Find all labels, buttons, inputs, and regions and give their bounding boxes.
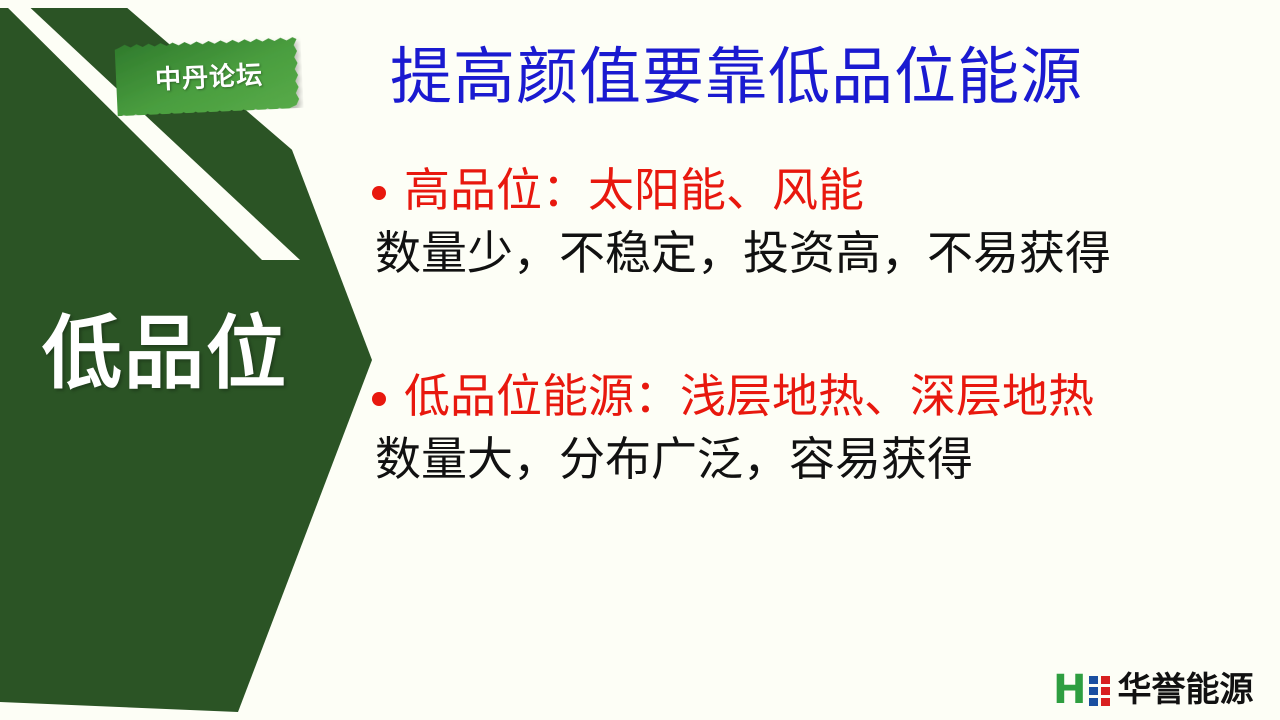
bullet-text: 高品位：太阳能、风能 (404, 160, 864, 222)
arrow-banner-label: 低品位 (42, 300, 332, 408)
bullet-dot-icon (372, 392, 386, 406)
logo-grid-cell (1089, 687, 1098, 695)
detail-text: 数量少，不稳定，投资高，不易获得 (372, 222, 1222, 286)
logo-company-name: 华誉能源 (1117, 672, 1253, 708)
logo-grid-cell (1089, 698, 1098, 706)
bullet-dot-icon (372, 186, 386, 200)
content-block-2: 低品位能源：浅层地热、深层地热 数量大，分布广泛，容易获得 (372, 366, 1222, 492)
bullet-item: 高品位：太阳能、风能 (372, 160, 1222, 222)
slide-canvas: 低品位 中丹论坛 提高颜值要靠低品位能源 (0, 0, 1280, 720)
bullet-item: 低品位能源：浅层地热、深层地热 (372, 366, 1222, 428)
ribbon-label-wrap: 中丹论坛 (114, 34, 303, 116)
logo-grid-cell (1101, 698, 1110, 706)
logo-h-mark: H (1053, 670, 1086, 710)
bullet-text: 低品位能源：浅层地热、深层地热 (404, 366, 1094, 428)
logo-grid-cell (1101, 687, 1110, 695)
arrow-banner-text: 低品位 (42, 314, 288, 394)
company-logo: H 华誉能源 (1053, 668, 1253, 712)
ribbon-label: 中丹论坛 (154, 54, 264, 96)
logo-grid-cell (1089, 676, 1098, 684)
logo-grid-cell (1101, 676, 1110, 684)
logo-pixel-grid-icon (1089, 676, 1110, 706)
detail-text: 数量大，分布广泛，容易获得 (372, 428, 1222, 492)
content-block-1: 高品位：太阳能、风能 数量少，不稳定，投资高，不易获得 (372, 160, 1222, 286)
content-body: 高品位：太阳能、风能 数量少，不稳定，投资高，不易获得 低品位能源：浅层地热、深… (372, 160, 1222, 492)
forum-ribbon-badge: 中丹论坛 (114, 34, 303, 116)
page-title: 提高颜值要靠低品位能源 (390, 36, 1180, 120)
